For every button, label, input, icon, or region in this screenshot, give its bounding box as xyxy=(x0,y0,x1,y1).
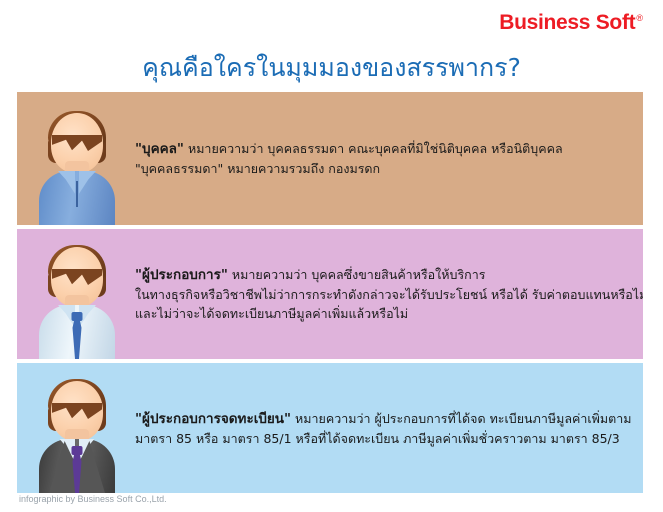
infographic-panel-list: "บุคคล" หมายความว่า บุคคลธรรมดา คณะบุคคล… xyxy=(17,92,643,497)
avatar-slot xyxy=(17,92,135,225)
panel-registered-operator: "ผู้ประกอบการจดทะเบียน" หมายความว่า ผู้ป… xyxy=(17,363,643,493)
panel-operator: "ผู้ประกอบการ" หมายความว่า บุคคลซึ่งขายส… xyxy=(17,229,643,359)
brand-logo: Business Soft ® xyxy=(499,12,643,38)
definition-body: หมายความว่า ผู้ประกอบการที่ได้จด ทะเบียน… xyxy=(291,411,631,426)
definition-body: หมายความว่า บุคคลธรรมดา คณะบุคคลที่มิใช่… xyxy=(184,141,563,156)
definition-term: "ผู้ประกอบการ" xyxy=(135,267,228,283)
definition-body: มาตรา 85 หรือ มาตรา 85/1 หรือที่ได้จดทะเ… xyxy=(135,431,620,446)
text-line: "บุคคล" หมายความว่า บุคคลธรรมดา คณะบุคคล… xyxy=(135,139,633,159)
text-line: มาตรา 85 หรือ มาตรา 85/1 หรือที่ได้จดทะเ… xyxy=(135,429,633,448)
avatar-executive-suit xyxy=(39,377,115,493)
definition-term: "ผู้ประกอบการจดทะเบียน" xyxy=(135,411,291,427)
footer-credit: infographic by Business Soft Co.,Ltd. xyxy=(19,494,167,504)
panel-text: "ผู้ประกอบการ" หมายความว่า บุคคลซึ่งขายส… xyxy=(135,265,643,323)
brand-logo-text: Business Soft xyxy=(499,12,635,34)
registered-trademark-icon: ® xyxy=(636,13,643,23)
text-line: "ผู้ประกอบการ" หมายความว่า บุคคลซึ่งขายส… xyxy=(135,265,643,285)
avatar-casual-man xyxy=(39,109,115,225)
panel-person: "บุคคล" หมายความว่า บุคคลธรรมดา คณะบุคคล… xyxy=(17,92,643,225)
definition-body: "บุคคลธรรมดา" หมายความรวมถึง กองมรดก xyxy=(135,161,380,176)
text-line: และไม่ว่าจะได้จดทะเบียนภาษีมูลค่าเพิ่มแล… xyxy=(135,304,643,323)
necktie-knot xyxy=(72,446,83,455)
panel-text: "ผู้ประกอบการจดทะเบียน" หมายความว่า ผู้ป… xyxy=(135,409,643,448)
avatar-slot xyxy=(17,229,135,359)
text-line: ในทางธุรกิจหรือวิชาชีพไม่ว่าการกระทำดังก… xyxy=(135,285,643,304)
avatar-businessman-shirt-tie xyxy=(39,243,115,359)
necktie-knot xyxy=(72,312,83,321)
definition-body: หมายความว่า บุคคลซึ่งขายสินค้าหรือให้บริ… xyxy=(228,267,486,282)
definition-body: และไม่ว่าจะได้จดทะเบียนภาษีมูลค่าเพิ่มแล… xyxy=(135,306,408,321)
text-line: "ผู้ประกอบการจดทะเบียน" หมายความว่า ผู้ป… xyxy=(135,409,633,429)
panel-text: "บุคคล" หมายความว่า บุคคลธรรมดา คณะบุคคล… xyxy=(135,139,643,178)
definition-term: "บุคคล" xyxy=(135,141,184,157)
text-line: "บุคคลธรรมดา" หมายความรวมถึง กองมรดก xyxy=(135,159,633,178)
definition-body: ในทางธุรกิจหรือวิชาชีพไม่ว่าการกระทำดังก… xyxy=(135,287,643,302)
page-title: คุณคือใครในมุมมองของสรรพากร? xyxy=(0,48,663,88)
shirt-placket xyxy=(76,181,78,207)
avatar-slot xyxy=(17,363,135,493)
